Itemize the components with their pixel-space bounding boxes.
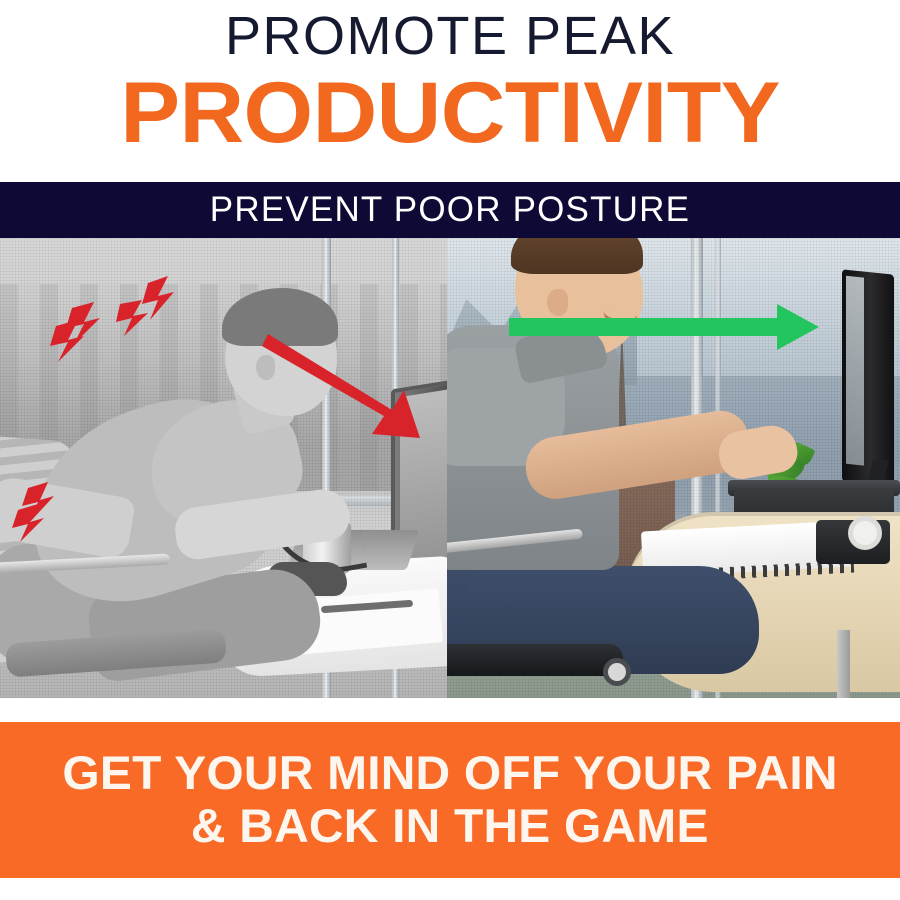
chair-seat-right xyxy=(447,644,623,676)
person-hunched xyxy=(0,278,390,698)
person-ear-right xyxy=(547,289,568,316)
comparison-photo-strip xyxy=(0,238,900,698)
person-hair-left xyxy=(222,288,338,346)
cta-line-2: & BACK IN THE GAME xyxy=(191,800,709,853)
person-hair-right xyxy=(511,238,643,274)
headline-top-line: PROMOTE PEAK xyxy=(225,6,675,66)
cta-bottom-gap xyxy=(0,878,900,900)
headline-main-line: PRODUCTIVITY xyxy=(120,70,780,156)
headline-block: PROMOTE PEAK PRODUCTIVITY xyxy=(0,0,900,182)
cta-banner: GET YOUR MIND OFF YOUR PAIN & BACK IN TH… xyxy=(0,722,900,878)
chair-wheel-right xyxy=(603,658,631,686)
sub-banner-text: PREVENT POOR POSTURE xyxy=(210,190,690,230)
person-upright xyxy=(447,268,877,698)
cta-top-gap xyxy=(0,698,900,722)
bad-posture-photo xyxy=(0,238,447,698)
sub-banner: PREVENT POOR POSTURE xyxy=(0,182,900,238)
good-posture-photo xyxy=(447,238,900,698)
person-ear-left xyxy=(256,355,275,380)
cta-line-1: GET YOUR MIND OFF YOUR PAIN xyxy=(62,747,837,800)
